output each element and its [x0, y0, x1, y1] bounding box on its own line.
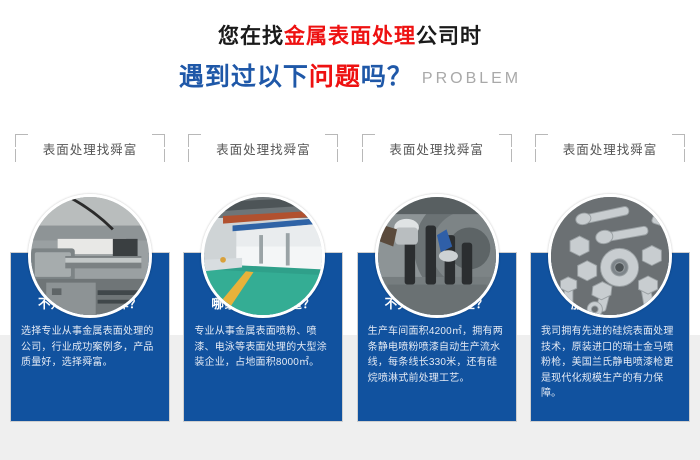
card-tag-label: 表面处理找舜富 [389, 139, 484, 158]
headline-primary: 您在找金属表面处理公司时 [0, 22, 700, 52]
card-tag: 表面处理找舜富 [535, 130, 685, 166]
headline-primary-highlight: 金属表面处理 [284, 25, 416, 48]
card-tag-label: 表面处理找舜富 [216, 139, 311, 158]
card-body: 生产车间面积4200㎡，拥有两条静电喷粉喷漆自动生产流水线，每条线长330米，还… [368, 324, 506, 386]
corner-bracket-bottom-left-icon [535, 149, 548, 162]
problem-card[interactable]: 表面处理找舜富 金属表面处理 哪家 [183, 130, 343, 430]
corner-bracket-top-left-icon [362, 134, 375, 147]
card-body: 专业从事金属表面喷粉、喷漆、电泳等表面处理的大型涂装企业，占地面积8000㎡。 [194, 324, 332, 371]
lathe-machine-photo [28, 194, 152, 318]
problem-card[interactable]: 表面处理找舜富 [530, 130, 690, 430]
headline-secondary-highlight: 问题 [309, 63, 361, 91]
bolts-nuts-photo [548, 194, 672, 318]
corner-bracket-bottom-right-icon [152, 149, 165, 162]
headline-primary-prefix: 您在找 [218, 25, 284, 48]
corner-bracket-bottom-left-icon [188, 149, 201, 162]
card-tag: 表面处理找舜富 [15, 130, 165, 166]
card-tag-label: 表面处理找舜富 [43, 139, 138, 158]
corner-bracket-top-right-icon [325, 134, 338, 147]
corner-bracket-top-left-icon [15, 134, 28, 147]
problem-card[interactable]: 表面处理找舜富 [357, 130, 517, 430]
card-tag-label: 表面处理找舜富 [563, 139, 658, 158]
problem-card[interactable]: 表面处理找舜富 设备不了解 [10, 130, 170, 430]
corner-bracket-bottom-right-icon [499, 149, 512, 162]
corner-bracket-top-left-icon [188, 134, 201, 147]
headline-secondary: 遇到过以下问题吗？PROBLEM [0, 60, 700, 96]
headline-secondary-suffix: 吗？ [361, 63, 413, 91]
corner-bracket-top-left-icon [535, 134, 548, 147]
factory-corridor-photo [201, 194, 325, 318]
page-header: 您在找金属表面处理公司时 遇到过以下问题吗？PROBLEM [0, 0, 700, 96]
corner-bracket-bottom-left-icon [15, 149, 28, 162]
corner-bracket-top-right-icon [499, 134, 512, 147]
corner-bracket-bottom-right-icon [325, 149, 338, 162]
metal-tooling-photo [375, 194, 499, 318]
corner-bracket-top-right-icon [672, 134, 685, 147]
card-body: 我司拥有先进的硅烷表面处理技术，原装进口的瑞士金马喷粉枪，美国兰氏静电喷漆枪更是… [541, 324, 679, 402]
corner-bracket-bottom-right-icon [672, 149, 685, 162]
headline-secondary-prefix: 遇到过以下 [179, 63, 309, 91]
card-tag: 表面处理找舜富 [362, 130, 512, 166]
problem-card-row: 表面处理找舜富 设备不了解 [0, 130, 700, 430]
headline-primary-suffix: 公司时 [416, 25, 482, 48]
headline-english-label: PROBLEM [422, 70, 521, 87]
card-tag: 表面处理找舜富 [188, 130, 338, 166]
card-body: 选择专业从事金属表面处理的公司，行业成功案例多，产品质量好，选择舜富。 [21, 324, 159, 371]
corner-bracket-bottom-left-icon [362, 149, 375, 162]
corner-bracket-top-right-icon [152, 134, 165, 147]
